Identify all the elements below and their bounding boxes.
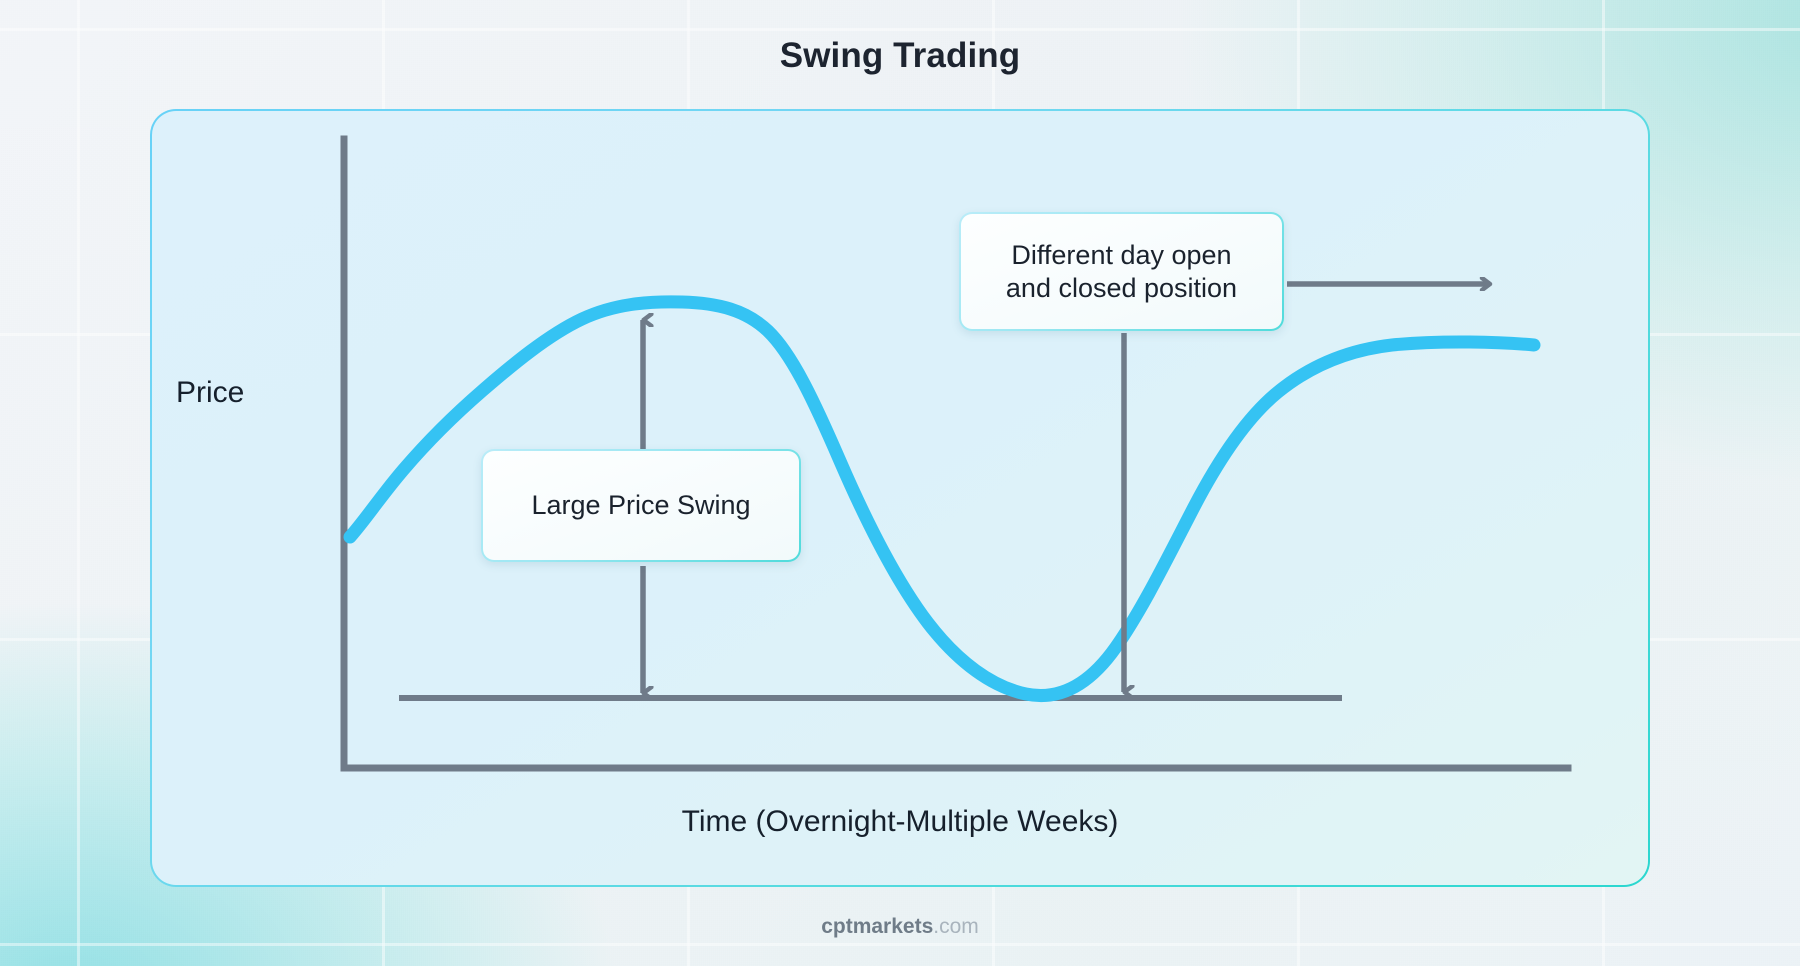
callout-different-day-position-label: Different day open and closed position bbox=[996, 239, 1247, 305]
callout-different-day-position: Different day open and closed position bbox=[959, 212, 1284, 331]
callout-large-price-swing-body: Large Price Swing bbox=[483, 451, 799, 560]
chart-panel bbox=[150, 109, 1650, 887]
callout-different-day-position-body: Different day open and closed position bbox=[961, 214, 1282, 329]
callout-large-price-swing: Large Price Swing bbox=[481, 449, 801, 562]
x-axis-label: Time (Overnight-Multiple Weeks) bbox=[0, 805, 1800, 839]
footer-brand: cptmarkets bbox=[821, 915, 933, 938]
y-axis-label: Price bbox=[176, 376, 244, 410]
price-chart bbox=[152, 111, 1648, 885]
page-title: Swing Trading bbox=[0, 36, 1800, 76]
footer-watermark: cptmarkets.com bbox=[0, 915, 1800, 939]
callout-large-price-swing-label: Large Price Swing bbox=[521, 489, 760, 522]
footer-tld: .com bbox=[933, 915, 979, 938]
chart-panel-inner bbox=[152, 111, 1648, 885]
swing-trading-infographic: Swing Trading bbox=[0, 0, 1800, 966]
